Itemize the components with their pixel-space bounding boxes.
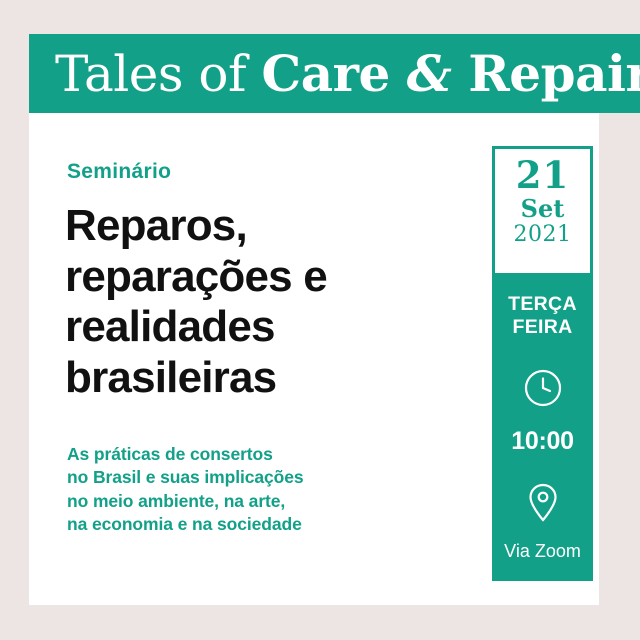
event-time: 10:00: [511, 427, 573, 456]
date-day: 21: [516, 157, 570, 194]
clock-icon: [523, 368, 563, 413]
platform-label: Via Zoom: [504, 541, 581, 562]
subtitle-line: no Brasil e suas implicações: [67, 466, 467, 489]
details-box: TERÇA FEIRA 10:00: [495, 273, 590, 578]
date-year: 2021: [514, 223, 572, 247]
banner-title: Tales of Care & Repair: [29, 49, 640, 99]
poster-canvas: Tales of Care & Repair Seminário Reparos…: [0, 0, 640, 640]
page-title: Reparos, reparações e realidades brasile…: [65, 201, 485, 403]
subtitle-block: As práticas de consertos no Brasil e sua…: [67, 443, 467, 536]
subtitle-line: no meio ambiente, na arte,: [67, 490, 467, 513]
event-info-column: 21 Set 2021 TERÇA FEIRA 10:00: [492, 146, 593, 581]
weekday-label: TERÇA FEIRA: [508, 293, 577, 340]
subtitle-line: As práticas de consertos: [67, 443, 467, 466]
content-card: Seminário Reparos, reparações e realidad…: [29, 113, 599, 605]
date-month: Set: [521, 196, 565, 222]
weekday-line-2: FEIRA: [508, 316, 577, 339]
banner-title-part1: Tales of: [55, 45, 261, 103]
kicker-label: Seminário: [67, 160, 171, 184]
header-banner: Tales of Care & Repair: [29, 34, 640, 113]
date-box: 21 Set 2021: [495, 149, 590, 273]
map-pin-icon: [527, 482, 559, 529]
subtitle-line: na economia e na sociedade: [67, 513, 467, 536]
weekday-line-1: TERÇA: [508, 293, 577, 316]
banner-title-ampersand: &: [407, 44, 469, 103]
banner-title-part2: Care: [261, 44, 406, 103]
banner-title-part3: Repair: [468, 44, 640, 103]
